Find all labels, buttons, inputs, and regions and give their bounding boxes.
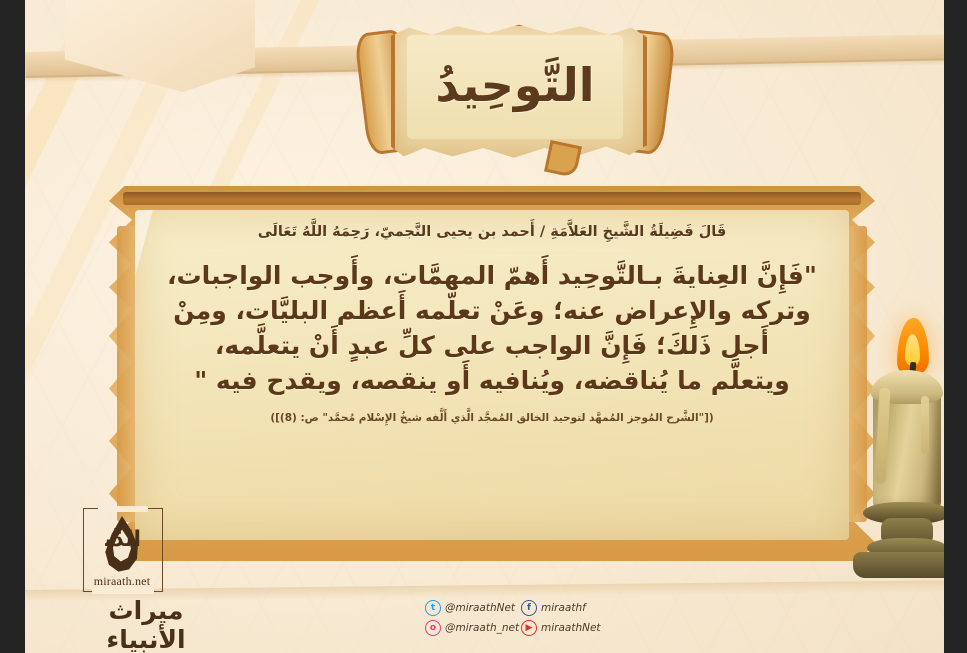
social-link-youtube[interactable]: ▶ miraathNet <box>521 620 625 636</box>
quote-line-2: وتركه والإِعراض عنه؛ وعَنْ تعلّمه أَعظم … <box>153 293 831 328</box>
source-citation: (["الشَّرح المُوجز المُمهَّد لتوحيد الخا… <box>153 411 831 427</box>
quote-line-3: أَجل ذَلكَ؛ فَإِنَّ الواجب على كلِّ عبدٍ… <box>153 328 831 363</box>
social-link-facebook[interactable]: f miraathf <box>521 600 625 616</box>
main-parchment: قَالَ فَضِيلَةُ الشَّيخِ العَلاَّمَةِ / … <box>109 186 875 561</box>
letterbox-bar-left <box>0 0 25 653</box>
logo-calligraphy: الدِّين <box>105 528 141 572</box>
candle-wax-drip-right <box>921 396 929 454</box>
candle-illustration <box>851 318 944 588</box>
scroll-inner-panel: التَّوحِيدُ <box>407 35 623 139</box>
quote-line-4: ويتعلَّم ما يُناقضه، ويُنافيه أَو ينقصه،… <box>153 363 831 398</box>
logo-frame-notch-top <box>98 506 148 512</box>
facebook-handle: miraathf <box>541 602 586 614</box>
youtube-icon: ▶ <box>521 620 537 636</box>
logo-url-text: miraath.net <box>85 574 159 589</box>
brand-logo[interactable]: الدِّين miraath.net ميراث الأنبياء <box>83 508 203 608</box>
youtube-handle: miraathNet <box>541 622 601 634</box>
attribution-line: قَالَ فَضِيلَةُ الشَّيخِ العَلاَّمَةِ / … <box>153 222 831 244</box>
scroll-tail <box>544 140 582 178</box>
candle-holder-base <box>853 552 944 578</box>
instagram-icon: o <box>425 620 441 636</box>
facebook-icon: f <box>521 600 537 616</box>
parchment-content: قَالَ فَضِيلَةُ الشَّيخِ العَلاَّمَةِ / … <box>153 218 831 534</box>
social-link-instagram[interactable]: o @miraath_net <box>425 620 521 636</box>
twitter-icon: t <box>425 600 441 616</box>
quote-line-1: "فَإِنَّ العِنايةَ بـالتَّوحِيد أَهمّ ال… <box>153 258 831 293</box>
parchment-top-band <box>123 192 861 205</box>
poster-canvas: التَّوحِيدُ قَالَ فَضِيلَةُ الشَّيخِ الع… <box>25 0 944 653</box>
social-links: t @miraathNet f miraathf o @miraath_net … <box>425 600 625 636</box>
letterbox-bar-right <box>944 0 967 653</box>
logo-arabic-name: ميراث الأنبياء <box>71 596 221 653</box>
poster-root: التَّوحِيدُ قَالَ فَضِيلَةُ الشَّيخِ الع… <box>0 0 967 653</box>
title-scroll-banner: التَّوحِيدُ <box>361 17 669 165</box>
instagram-handle: @miraath_net <box>445 622 519 634</box>
page-title: التَّوحِيدُ <box>435 62 594 108</box>
twitter-handle: @miraathNet <box>445 602 515 614</box>
social-link-twitter[interactable]: t @miraathNet <box>425 600 521 616</box>
